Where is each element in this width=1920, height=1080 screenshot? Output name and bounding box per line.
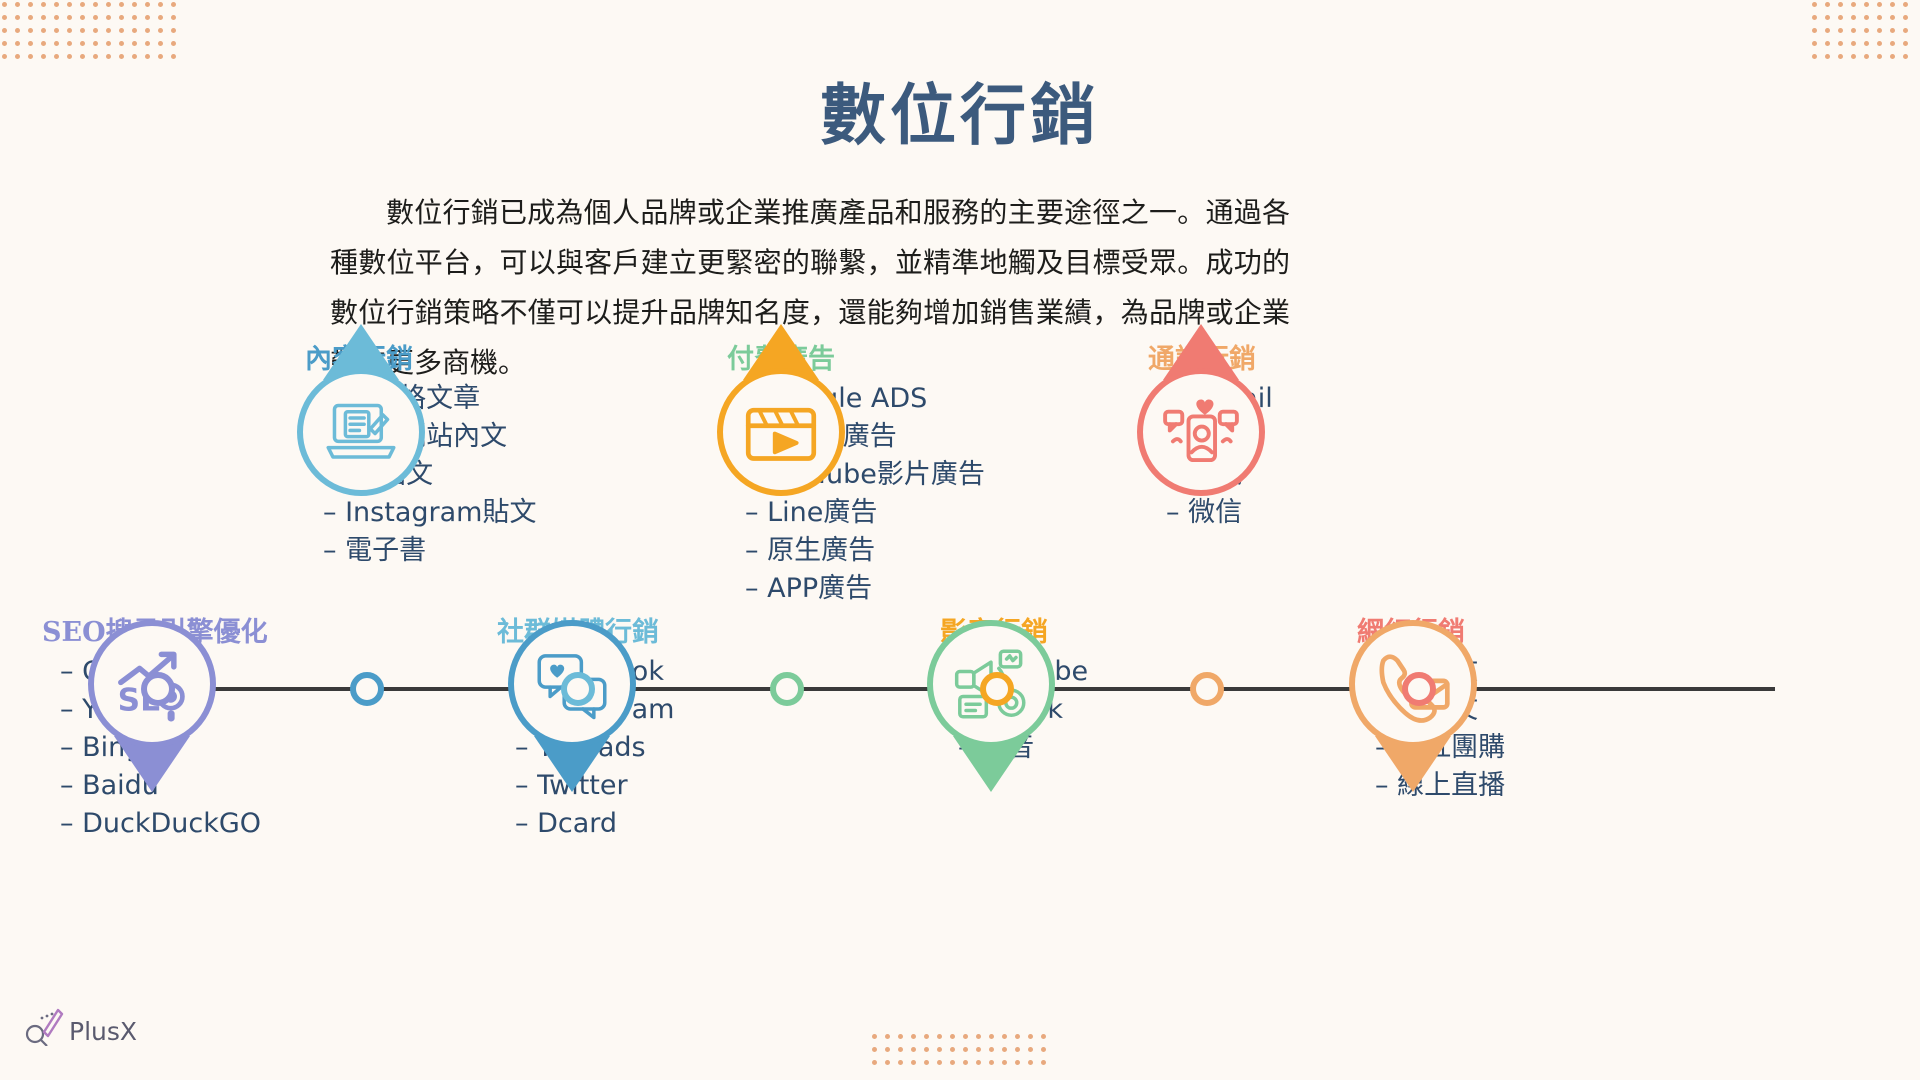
node-pin-influencer[interactable] (1137, 368, 1265, 496)
timeline-dot-content (350, 672, 384, 706)
timeline-dot-seo (141, 672, 175, 706)
pen-search-icon (22, 1002, 66, 1046)
logo-text: PlusX (69, 1017, 137, 1046)
timeline-dot-video (980, 672, 1014, 706)
timeline-dot-paid-ads (770, 672, 804, 706)
phone-hearts-icon (1137, 368, 1265, 496)
video-player-icon (717, 368, 845, 496)
list-item: 電子書 (323, 532, 536, 570)
list-item: 原生廣告 (745, 532, 985, 570)
list-item: Line廣告 (745, 494, 985, 532)
timeline-dot-messaging (1190, 672, 1224, 706)
timeline-dot-influencer (1402, 672, 1436, 706)
list-item: APP廣告 (745, 570, 985, 608)
page-title: 數位行銷 (0, 62, 1920, 158)
node-pin-social[interactable] (297, 368, 425, 496)
timeline-dot-social (561, 672, 595, 706)
node-pin-video[interactable] (717, 368, 845, 496)
list-item: DuckDuckGO (60, 805, 268, 843)
decorative-dots-bottom (870, 1032, 1060, 1076)
decorative-dots-top-right (1810, 0, 1920, 70)
plusx-logo: PlusX (22, 1002, 137, 1046)
list-item: Dcard (515, 805, 674, 843)
laptop-document-icon (297, 368, 425, 496)
list-item: Instagram貼文 (323, 494, 536, 532)
decorative-dots-top-left (0, 0, 190, 70)
list-item: 微信 (1166, 494, 1273, 532)
